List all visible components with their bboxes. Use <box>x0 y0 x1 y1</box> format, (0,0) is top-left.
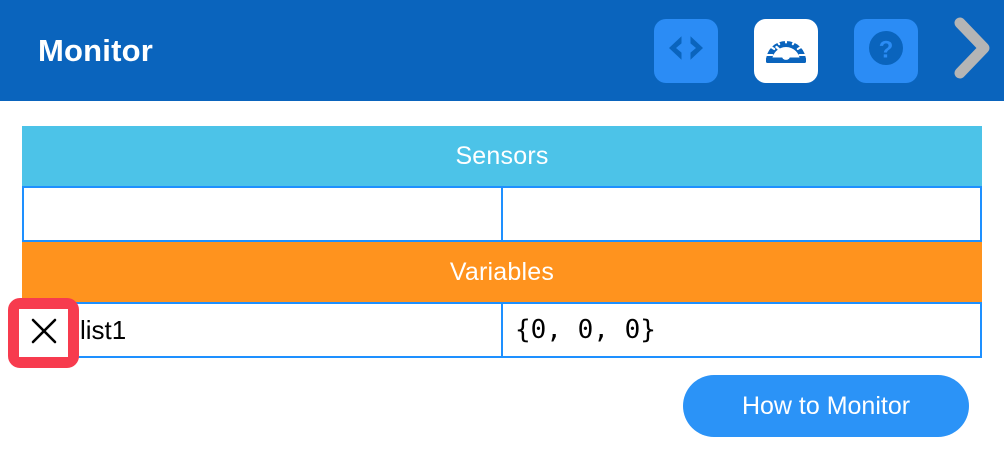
variable-value-cell[interactable]: {0, 0, 0} <box>503 302 982 358</box>
table-row <box>22 186 982 242</box>
sensor-value-cell[interactable] <box>503 186 982 242</box>
code-icon <box>666 35 706 66</box>
app-bar: Monitor <box>0 0 1004 101</box>
sensors-section-header: Sensors <box>22 126 982 186</box>
how-to-monitor-button[interactable]: How to Monitor <box>683 375 969 437</box>
page-title: Monitor <box>38 33 153 69</box>
help-icon: ? <box>865 27 907 74</box>
delete-variable-button[interactable] <box>19 309 68 357</box>
monitor-view-button[interactable] <box>754 19 818 83</box>
variable-name-cell[interactable]: list1 <box>22 302 503 358</box>
variable-value-text: {0, 0, 0} <box>515 315 656 345</box>
help-button[interactable]: ? <box>854 19 918 83</box>
svg-text:?: ? <box>879 37 894 64</box>
variables-section-header: Variables <box>22 242 982 302</box>
sensor-name-cell[interactable] <box>22 186 503 242</box>
table-row: list1 {0, 0, 0} <box>22 302 982 358</box>
chevron-right-icon <box>951 17 991 84</box>
close-icon <box>29 316 59 351</box>
variable-name-text: list1 <box>80 315 126 346</box>
monitor-table: Sensors Variables list1 {0, 0, 0} <box>22 126 982 358</box>
next-button[interactable] <box>944 11 998 91</box>
app-bar-actions: ? <box>618 0 1004 101</box>
gauge-icon <box>764 31 808 70</box>
code-view-button[interactable] <box>654 19 718 83</box>
